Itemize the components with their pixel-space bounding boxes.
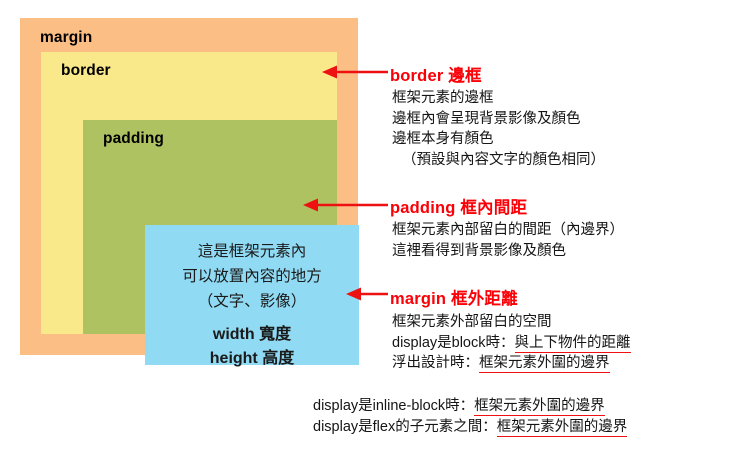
border-desc-line-2: 邊框內會呈現背景影像及顏色 [392, 109, 605, 130]
arrow-to-border-icon [318, 62, 390, 82]
margin-rule-3-prefix: display是inline-block時： [313, 398, 474, 414]
annotation-heading-border: border 邊框 [390, 62, 482, 86]
annotation-body-margin: 框架元素外部留白的空間 display是block時：與上下物件的距離 浮出設計… [392, 312, 631, 374]
content-box-text: 這是框架元素內 可以放置內容的地方 （文字、影像） width 寬度 heigh… [145, 239, 359, 371]
margin-rule-4: display是flex的子元素之間：框架元素外圍的邊界 [313, 417, 627, 438]
annotation-body-border: 框架元素的邊框 邊框內會呈現背景影像及顏色 邊框本身有顏色 （預設與內容文字的顏… [392, 88, 605, 170]
arrow-to-margin-icon [342, 284, 390, 304]
box-model-diagram: margin border padding 這是框架元素內 可以放置內容的地方 … [20, 18, 358, 355]
margin-label: margin [40, 29, 92, 47]
annotation-heading-padding: padding 框內間距 [390, 194, 527, 218]
margin-rule-4-prefix: display是flex的子元素之間： [313, 419, 497, 435]
padding-desc-line-1: 框架元素內部留白的間距（內邊界） [392, 220, 624, 241]
content-height-label: height 高度 [145, 347, 359, 371]
padding-label: padding [103, 130, 164, 148]
margin-rule-1-prefix: display是block時： [392, 335, 515, 351]
annotation-body-padding: 框架元素內部留白的間距（內邊界） 這裡看得到背景影像及顏色 [392, 220, 624, 261]
border-desc-line-3: 邊框本身有顏色 [392, 129, 605, 150]
margin-rule-4-emphasis: 框架元素外圍的邊界 [497, 419, 628, 437]
annotation-body-margin-extra: display是inline-block時：框架元素外圍的邊界 display是… [313, 396, 627, 438]
margin-rule-1-emphasis: 與上下物件的距離 [515, 335, 631, 353]
margin-rule-1: display是block時：與上下物件的距離 [392, 333, 631, 354]
padding-desc-line-2: 這裡看得到背景影像及顏色 [392, 241, 624, 262]
border-desc-line-4: （預設與內容文字的顏色相同） [392, 150, 605, 171]
margin-rule-3: display是inline-block時：框架元素外圍的邊界 [313, 396, 627, 417]
content-width-label: width 寬度 [145, 323, 359, 347]
padding-box-layer: padding 這是框架元素內 可以放置內容的地方 （文字、影像） width … [83, 120, 337, 334]
content-dimensions: width 寬度 height 高度 [145, 323, 359, 371]
content-line-3: （文字、影像） [145, 289, 359, 314]
content-box-layer: 這是框架元素內 可以放置內容的地方 （文字、影像） width 寬度 heigh… [145, 225, 359, 365]
margin-rule-3-emphasis: 框架元素外圍的邊界 [474, 398, 605, 416]
margin-rule-2-emphasis: 框架元素外圍的邊界 [479, 355, 610, 373]
annotation-heading-margin: margin 框外距離 [390, 285, 518, 309]
border-desc-line-1: 框架元素的邊框 [392, 88, 605, 109]
arrow-to-padding-icon [299, 195, 390, 215]
margin-box-layer: margin border padding 這是框架元素內 可以放置內容的地方 … [20, 18, 358, 355]
margin-rule-2-prefix: 浮出設計時： [392, 355, 479, 371]
content-line-1: 這是框架元素內 [145, 239, 359, 264]
border-box-layer: border padding 這是框架元素內 可以放置內容的地方 （文字、影像）… [41, 52, 337, 334]
content-line-2: 可以放置內容的地方 [145, 264, 359, 289]
margin-rule-2: 浮出設計時：框架元素外圍的邊界 [392, 353, 631, 374]
margin-desc-line-1: 框架元素外部留白的空間 [392, 312, 631, 333]
border-label: border [61, 62, 111, 80]
